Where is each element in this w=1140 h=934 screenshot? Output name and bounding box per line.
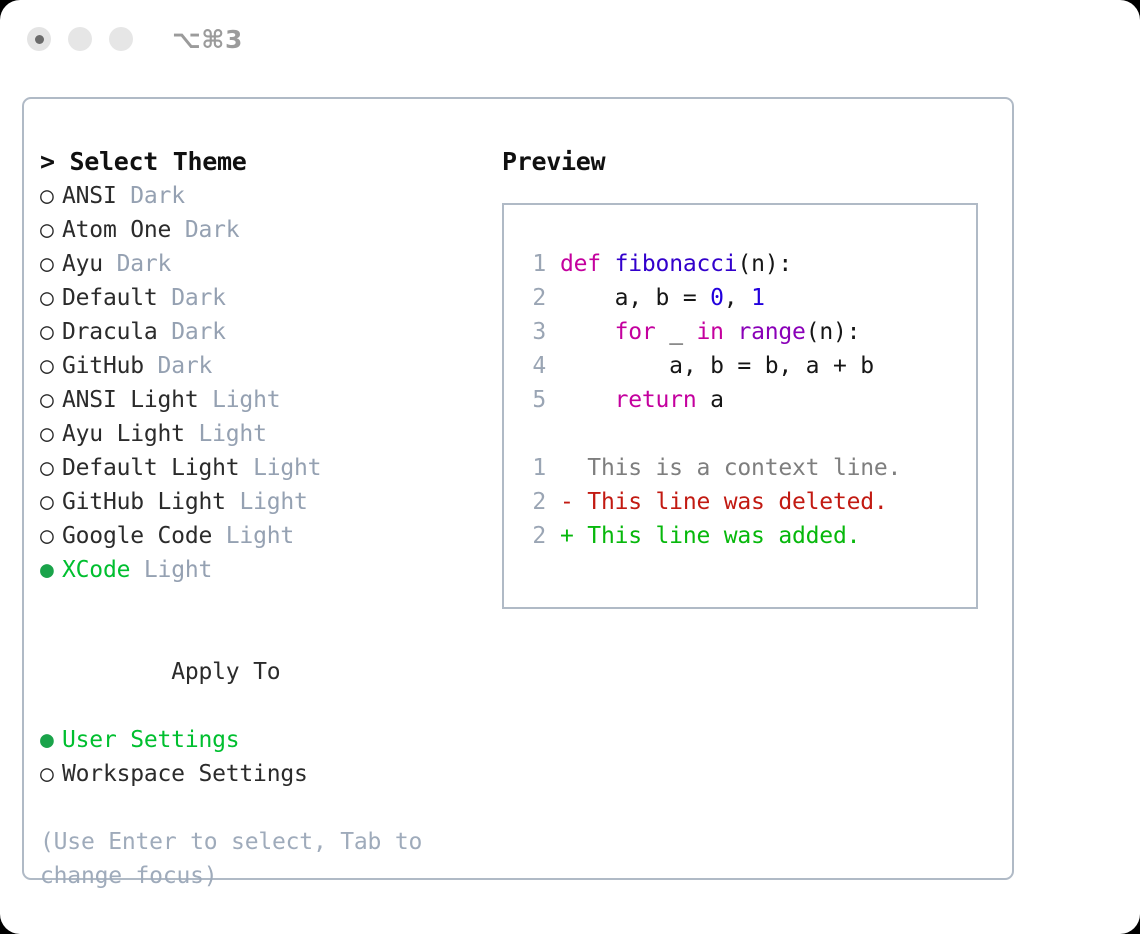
theme-option-ayu[interactable]: ○Ayu Dark	[40, 247, 500, 281]
radio-unselected-icon: ○	[40, 349, 62, 383]
radio-unselected-icon: ○	[40, 247, 62, 281]
code-token-kw: for	[615, 319, 656, 345]
theme-option-label: Ayu	[62, 251, 103, 277]
apply-to-option-label: Workspace Settings	[62, 761, 308, 787]
label-badge-separator	[185, 421, 199, 447]
label-badge-separator	[117, 183, 131, 209]
code-token-pl: a, b =	[560, 285, 710, 311]
code-token-num: 1	[751, 285, 765, 311]
theme-variant-badge: Dark	[158, 353, 213, 379]
theme-variant-badge: Light	[226, 523, 294, 549]
preview-column: Preview 1def fibonacci(n):2 a, b = 0, 13…	[502, 145, 1002, 609]
keyboard-shortcut-label: ⌥⌘3	[172, 25, 243, 54]
theme-list-column: > Select Theme ○ANSI Dark○Atom One Dark○…	[40, 145, 500, 893]
code-line-number: 4	[520, 349, 546, 383]
theme-option-label: Default Light	[62, 455, 239, 481]
label-badge-separator	[171, 217, 185, 243]
theme-option-label: ANSI Light	[62, 387, 198, 413]
section-spacer	[40, 587, 500, 621]
radio-selected-icon: ●	[40, 723, 62, 757]
radio-unselected-icon: ○	[40, 485, 62, 519]
theme-option-label: Ayu Light	[62, 421, 185, 447]
theme-option-label: Atom One	[62, 217, 171, 243]
keyboard-hint-text: (Use Enter to select, Tab to change focu…	[40, 825, 460, 893]
theme-option-ayu-light[interactable]: ○Ayu Light Light	[40, 417, 500, 451]
radio-unselected-icon: ○	[40, 519, 62, 553]
label-badge-separator	[239, 455, 253, 481]
code-token-pl: a	[696, 387, 723, 413]
theme-variant-badge: Light	[212, 387, 280, 413]
radio-unselected-icon: ○	[40, 451, 62, 485]
theme-option-label: Default	[62, 285, 158, 311]
code-line: 1def fibonacci(n):	[504, 247, 976, 281]
theme-variant-badge: Light	[253, 455, 321, 481]
theme-variant-badge: Dark	[185, 217, 240, 243]
code-token-bi: range	[737, 319, 805, 345]
radio-unselected-icon: ○	[40, 179, 62, 213]
radio-selected-icon: ●	[40, 553, 62, 587]
theme-option-atom-one[interactable]: ○Atom One Dark	[40, 213, 500, 247]
app-window: ⌥⌘3 > Select Theme ○ANSI Dark○Atom One D…	[0, 0, 1140, 934]
code-token-pl: (n):	[737, 251, 792, 277]
code-token-pl	[724, 319, 738, 345]
label-badge-separator	[144, 353, 158, 379]
code-line-number: 3	[520, 315, 546, 349]
diff-line-number: 2	[520, 519, 546, 553]
apply-to-option-user-settings[interactable]: ●User Settings	[40, 723, 500, 757]
radio-unselected-icon: ○	[40, 383, 62, 417]
theme-variant-badge: Dark	[130, 183, 185, 209]
titlebar: ⌥⌘3	[0, 0, 1140, 78]
code-token-fn: fibonacci	[615, 251, 738, 277]
theme-option-label: XCode	[62, 557, 130, 583]
preview-heading: Preview	[502, 145, 1002, 179]
window-dot-3[interactable]	[109, 27, 133, 51]
theme-option-google-code[interactable]: ○Google Code Light	[40, 519, 500, 553]
code-token-kw: return	[615, 387, 697, 413]
theme-variant-badge: Dark	[171, 319, 226, 345]
preview-diff-block: 1 This is a context line.2- This line wa…	[504, 451, 976, 553]
label-badge-separator	[198, 387, 212, 413]
preview-spacer	[504, 417, 976, 451]
label-badge-separator	[103, 251, 117, 277]
radio-unselected-icon: ○	[40, 417, 62, 451]
theme-option-dracula[interactable]: ○Dracula Dark	[40, 315, 500, 349]
window-dot-1[interactable]	[27, 27, 51, 51]
preview-box: 1def fibonacci(n):2 a, b = 0, 13 for _ i…	[502, 203, 978, 609]
label-badge-separator	[212, 523, 226, 549]
code-line: 5 return a	[504, 383, 976, 417]
label-badge-separator	[158, 319, 172, 345]
code-line: 4 a, b = b, a + b	[504, 349, 976, 383]
diff-line-text: - This line was deleted.	[560, 489, 888, 515]
window-dot-2[interactable]	[68, 27, 92, 51]
theme-option-ansi[interactable]: ○ANSI Dark	[40, 179, 500, 213]
code-token-pl	[601, 251, 615, 277]
diff-line-text: This is a context line.	[560, 455, 901, 481]
theme-option-label: GitHub	[62, 353, 144, 379]
code-line-number: 5	[520, 383, 546, 417]
label-badge-separator	[226, 489, 240, 515]
apply-to-heading-bullet-spacer: ○	[149, 655, 171, 689]
diff-line: 2- This line was deleted.	[504, 485, 976, 519]
code-token-pl: (n):	[806, 319, 861, 345]
preview-code-block: 1def fibonacci(n):2 a, b = 0, 13 for _ i…	[504, 247, 976, 417]
apply-to-option-label: User Settings	[62, 727, 239, 753]
theme-variant-badge: Light	[239, 489, 307, 515]
theme-variant-badge: Light	[144, 557, 212, 583]
code-token-pl	[560, 387, 615, 413]
code-token-pl: _	[656, 319, 697, 345]
apply-to-heading: ○Apply To	[40, 621, 500, 723]
label-badge-separator	[130, 557, 144, 583]
window-dot-1-inner	[35, 35, 44, 44]
diff-line: 1 This is a context line.	[504, 451, 976, 485]
theme-option-label: Google Code	[62, 523, 212, 549]
code-token-kw: def	[560, 251, 601, 277]
radio-unselected-icon: ○	[40, 315, 62, 349]
code-line: 3 for _ in range(n):	[504, 315, 976, 349]
code-token-num: 0	[710, 285, 724, 311]
theme-option-label: GitHub Light	[62, 489, 226, 515]
theme-option-xcode[interactable]: ●XCode Light	[40, 553, 500, 587]
radio-unselected-icon: ○	[40, 281, 62, 315]
code-token-pl	[560, 319, 615, 345]
diff-line-number: 1	[520, 451, 546, 485]
apply-to-option-workspace-settings[interactable]: ○Workspace Settings	[40, 757, 500, 791]
select-theme-heading: > Select Theme	[40, 145, 500, 179]
theme-option-ansi-light[interactable]: ○ANSI Light Light	[40, 383, 500, 417]
theme-variant-badge: Light	[198, 421, 266, 447]
theme-variant-badge: Dark	[117, 251, 172, 277]
theme-variant-badge: Dark	[171, 285, 226, 311]
theme-option-default[interactable]: ○Default Dark	[40, 281, 500, 315]
theme-option-github-light[interactable]: ○GitHub Light Light	[40, 485, 500, 519]
code-token-pl: a, b = b, a + b	[560, 353, 874, 379]
diff-line-text: + This line was added.	[560, 523, 860, 549]
apply-to-list: ●User Settings○Workspace Settings	[40, 723, 500, 791]
code-line-number: 2	[520, 281, 546, 315]
label-badge-separator	[158, 285, 172, 311]
code-token-kw: in	[697, 319, 724, 345]
code-line: 2 a, b = 0, 1	[504, 281, 976, 315]
theme-option-label: Dracula	[62, 319, 158, 345]
radio-unselected-icon: ○	[40, 213, 62, 247]
theme-option-default-light[interactable]: ○Default Light Light	[40, 451, 500, 485]
diff-line: 2+ This line was added.	[504, 519, 976, 553]
code-line-number: 1	[520, 247, 546, 281]
theme-option-label: ANSI	[62, 183, 117, 209]
diff-line-number: 2	[520, 485, 546, 519]
theme-option-github[interactable]: ○GitHub Dark	[40, 349, 500, 383]
code-token-pl: ,	[724, 285, 751, 311]
theme-list: ○ANSI Dark○Atom One Dark○Ayu Dark○Defaul…	[40, 179, 500, 587]
theme-picker-panel: > Select Theme ○ANSI Dark○Atom One Dark○…	[22, 97, 1014, 880]
radio-unselected-icon: ○	[40, 757, 62, 791]
